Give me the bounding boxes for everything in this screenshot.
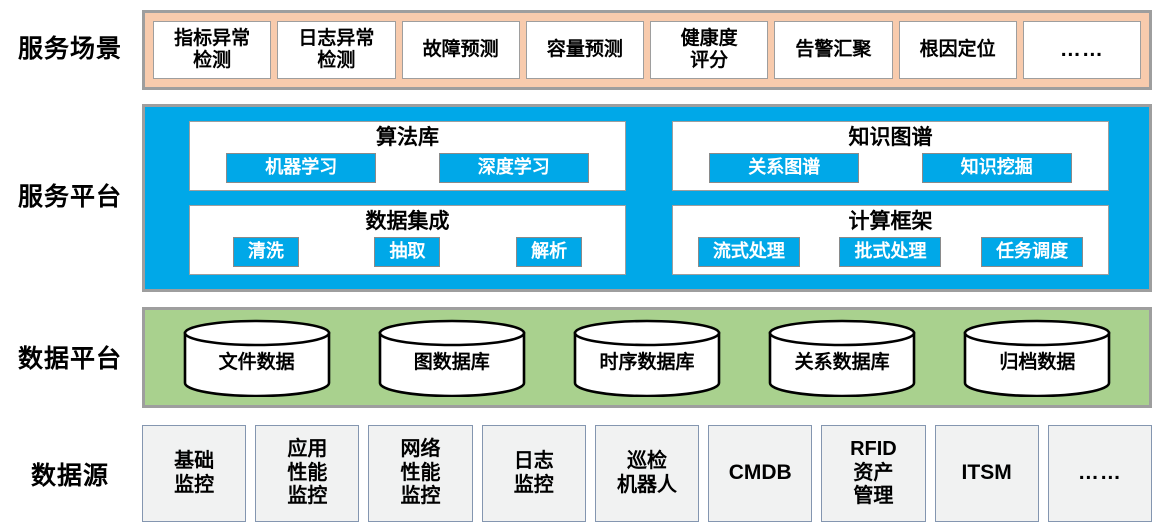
source-box-apm[interactable]: 应用 性能 监控: [255, 425, 359, 522]
scene-box-alarm-aggregation[interactable]: 告警汇聚: [774, 21, 892, 79]
chip-batch-processing[interactable]: 批式处理: [839, 237, 941, 267]
data-store-timeseries-db[interactable]: 时序数据库: [572, 319, 722, 397]
service-platform-panel-grid: 算法库 机器学习 深度学习 知识图谱 关系图谱 知识挖掘 数据集成 清洗 抽取: [145, 107, 1149, 289]
scene-box-root-cause[interactable]: 根因定位: [899, 21, 1017, 79]
panel-algorithm-library: 算法库 机器学习 深度学习: [189, 121, 626, 191]
chip-parsing[interactable]: 解析: [516, 237, 582, 267]
chip-relation-graph[interactable]: 关系图谱: [709, 153, 859, 183]
data-store-archive[interactable]: 归档数据: [962, 319, 1112, 397]
scene-box-health-score[interactable]: 健康度 评分: [650, 21, 768, 79]
row-label-data-platform: 数据平台: [0, 346, 140, 374]
source-box-rfid-asset-management[interactable]: RFID 资产 管理: [821, 425, 925, 522]
row-label-service-platform: 服务平台: [0, 184, 140, 212]
scene-box-fault-prediction[interactable]: 故障预测: [402, 21, 520, 79]
source-box-more[interactable]: ……: [1048, 425, 1152, 522]
aiops-architecture-diagram: 服务场景 服务平台 数据平台 数据源 指标异常 检测 日志异常 检测 故障预测 …: [0, 0, 1159, 530]
row-label-data-source: 数据源: [0, 463, 140, 491]
scene-box-capacity-forecast[interactable]: 容量预测: [526, 21, 644, 79]
service-platform-band: 算法库 机器学习 深度学习 知识图谱 关系图谱 知识挖掘 数据集成 清洗 抽取: [142, 104, 1152, 292]
panel-knowledge-graph: 知识图谱 关系图谱 知识挖掘: [672, 121, 1109, 191]
source-box-itsm[interactable]: ITSM: [935, 425, 1039, 522]
data-store-file[interactable]: 文件数据: [182, 319, 332, 397]
service-scene-band: 指标异常 检测 日志异常 检测 故障预测 容量预测 健康度 评分 告警汇聚 根因…: [142, 10, 1152, 90]
source-box-infrastructure-monitoring[interactable]: 基础 监控: [142, 425, 246, 522]
cylinder-icon: [377, 319, 527, 397]
panel-title-algorithm-library: 算法库: [376, 126, 439, 149]
cylinder-icon: [767, 319, 917, 397]
source-box-cmdb[interactable]: CMDB: [708, 425, 812, 522]
data-store-graph-db[interactable]: 图数据库: [377, 319, 527, 397]
chip-task-scheduling[interactable]: 任务调度: [981, 237, 1083, 267]
panel-computing-framework: 计算框架 流式处理 批式处理 任务调度: [672, 205, 1109, 275]
data-source-list: 基础 监控 应用 性能 监控 网络 性能 监控 日志 监控 巡检 机器人 CMD…: [142, 425, 1152, 522]
data-platform-band: 文件数据 图数据库 时序数据库: [142, 307, 1152, 408]
source-box-inspection-robot[interactable]: 巡检 机器人: [595, 425, 699, 522]
cylinder-icon: [572, 319, 722, 397]
source-box-npm[interactable]: 网络 性能 监控: [368, 425, 472, 522]
chip-knowledge-mining[interactable]: 知识挖掘: [922, 153, 1072, 183]
data-store-list: 文件数据 图数据库 时序数据库: [145, 310, 1149, 405]
chip-row-data-integration: 清洗 抽取 解析: [190, 237, 625, 272]
panel-title-knowledge-graph: 知识图谱: [849, 126, 933, 149]
scene-box-log-anomaly[interactable]: 日志异常 检测: [277, 21, 395, 79]
chip-row-algorithm-library: 机器学习 深度学习: [190, 153, 625, 188]
scene-box-more[interactable]: ……: [1023, 21, 1141, 79]
chip-row-computing-framework: 流式处理 批式处理 任务调度: [673, 237, 1108, 272]
panel-title-computing-framework: 计算框架: [849, 210, 933, 233]
panel-title-data-integration: 数据集成: [366, 210, 450, 233]
service-scene-box-list: 指标异常 检测 日志异常 检测 故障预测 容量预测 健康度 评分 告警汇聚 根因…: [145, 13, 1149, 87]
cylinder-icon: [962, 319, 1112, 397]
cylinder-icon: [182, 319, 332, 397]
panel-data-integration: 数据集成 清洗 抽取 解析: [189, 205, 626, 275]
row-label-service-scene: 服务场景: [0, 36, 140, 64]
chip-extraction[interactable]: 抽取: [374, 237, 440, 267]
chip-row-knowledge-graph: 关系图谱 知识挖掘: [673, 153, 1108, 188]
chip-deep-learning[interactable]: 深度学习: [439, 153, 589, 183]
scene-box-metric-anomaly[interactable]: 指标异常 检测: [153, 21, 271, 79]
data-store-relational-db[interactable]: 关系数据库: [767, 319, 917, 397]
source-box-log-monitoring[interactable]: 日志 监控: [482, 425, 586, 522]
chip-stream-processing[interactable]: 流式处理: [698, 237, 800, 267]
chip-cleaning[interactable]: 清洗: [233, 237, 299, 267]
chip-machine-learning[interactable]: 机器学习: [226, 153, 376, 183]
